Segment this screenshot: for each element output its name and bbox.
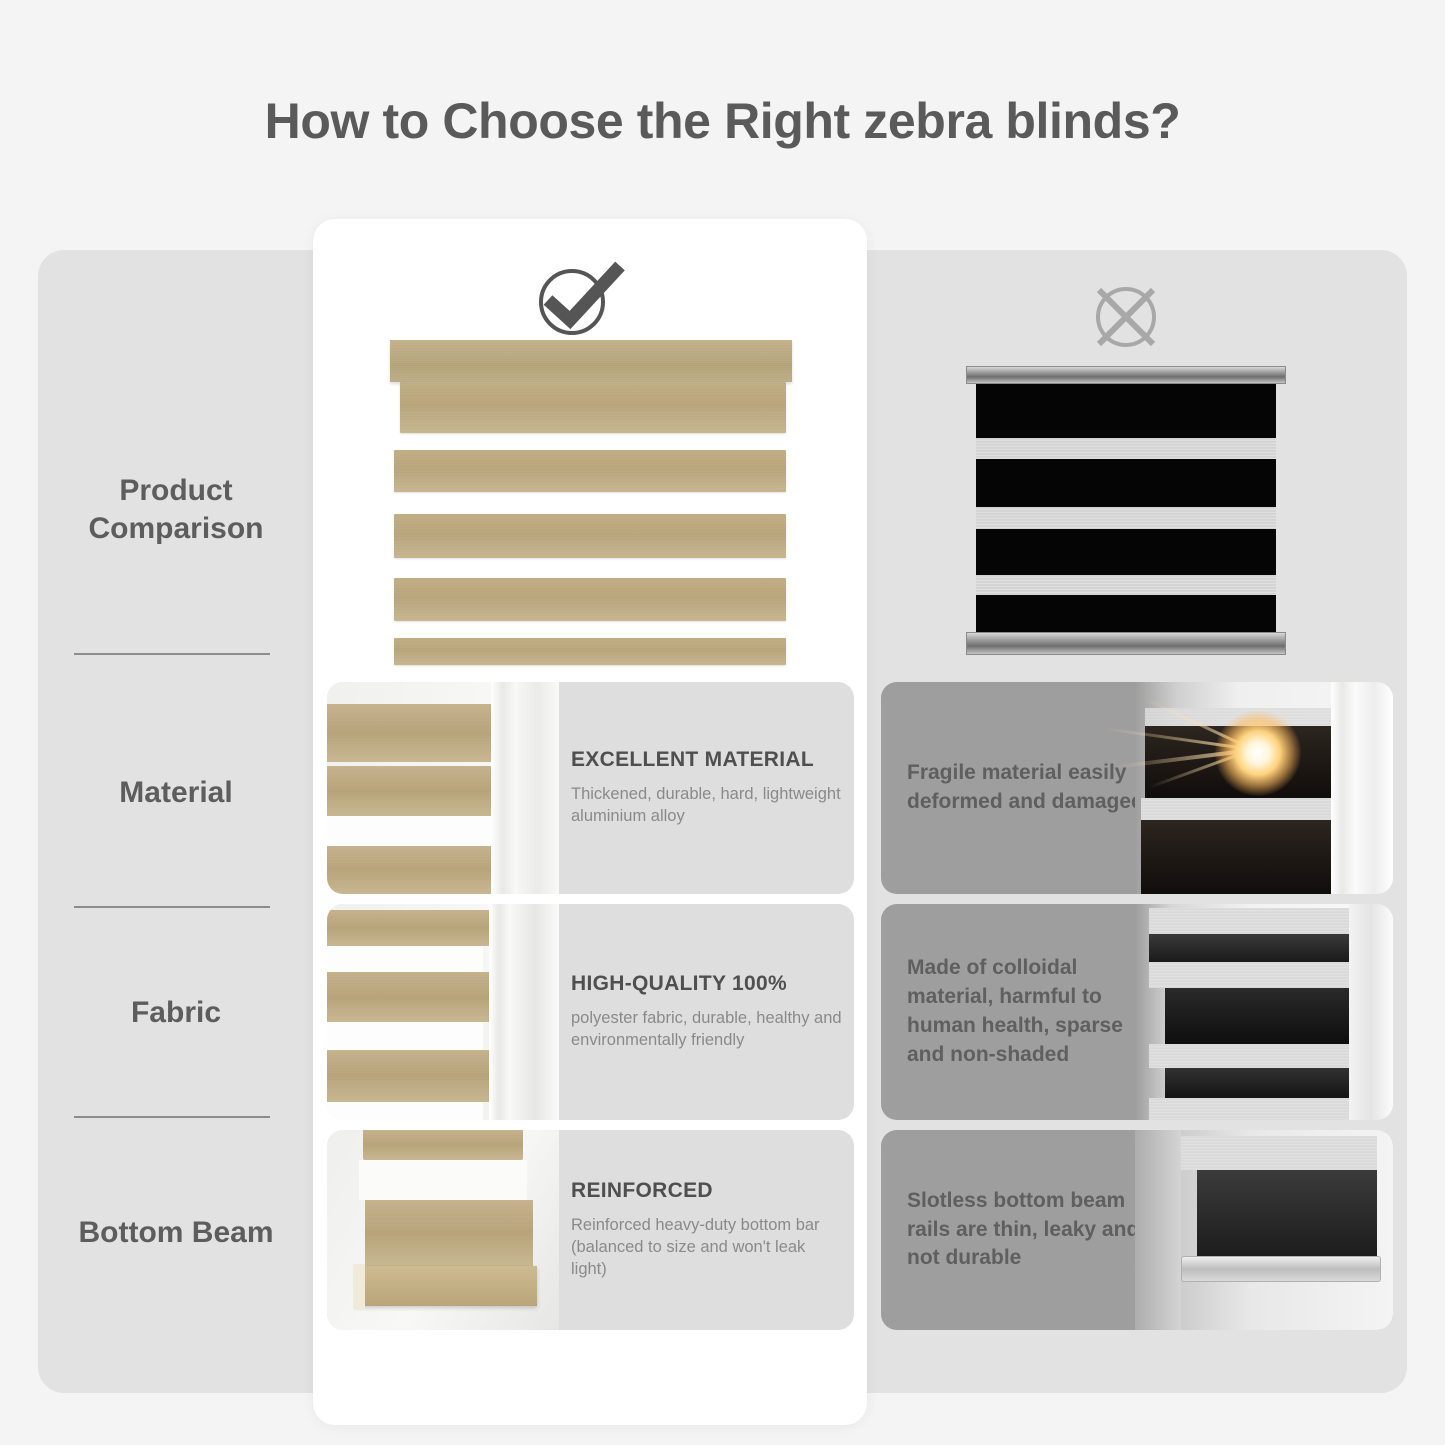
bad-material-photo <box>1135 682 1393 894</box>
feature-body: Thickened, durable, hard, lightweight al… <box>571 784 842 828</box>
blind-band <box>394 514 786 558</box>
rail-label-bottom-beam: Bottom Beam <box>38 1178 314 1288</box>
blind-band <box>394 578 786 621</box>
rail-label-material: Material <box>38 758 314 828</box>
page-title: How to Choose the Right zebra blinds? <box>0 92 1445 150</box>
blind-band <box>976 595 1276 632</box>
window-frame <box>511 904 559 1120</box>
window-frame <box>1135 1130 1181 1330</box>
bottom-bar-end-cap <box>353 1264 365 1310</box>
blind-mesh <box>1149 1044 1349 1068</box>
bad-feature-row-fabric: Made of colloidal material, harmful to h… <box>881 904 1393 1120</box>
good-feature-row-bottom-beam: REINFORCED Reinforced heavy-duty bottom … <box>327 1130 854 1330</box>
window-frame <box>491 682 517 894</box>
bad-fabric-photo <box>1135 904 1393 1120</box>
sun-glare-icon <box>1215 710 1301 796</box>
rail-divider-2 <box>74 906 270 908</box>
blind-slat <box>1141 820 1337 894</box>
blind-slat <box>327 766 491 816</box>
bad-hero-image <box>966 366 1286 655</box>
window-frame <box>1349 904 1393 1120</box>
light-gap <box>327 946 483 972</box>
blind-slat <box>327 704 505 762</box>
light-gap <box>359 1160 527 1200</box>
blind-slat <box>327 846 497 894</box>
blind-slat <box>365 1200 533 1266</box>
blind-band <box>976 459 1276 507</box>
blind-band <box>976 384 1276 438</box>
rail-label-text: Material <box>119 774 232 812</box>
good-bottom-beam-text: REINFORCED Reinforced heavy-duty bottom … <box>571 1130 854 1330</box>
category-label-rail: Product Comparison Material Fabric Botto… <box>38 250 314 1393</box>
bad-feature-row-bottom-beam: Slotless bottom beam rails are thin, lea… <box>881 1130 1393 1330</box>
feature-body: polyester fabric, durable, healthy and e… <box>571 1008 842 1052</box>
feature-heading: HIGH-QUALITY 100% <box>571 972 842 996</box>
blind-slat <box>1165 1068 1349 1098</box>
blind-band <box>394 450 786 492</box>
bad-feature-row-material: Fragile material easily deformed and dam… <box>881 682 1393 894</box>
feature-body: Reinforced heavy-duty bottom bar (balanc… <box>571 1215 842 1281</box>
check-circle-icon <box>528 256 628 340</box>
blind-band <box>976 507 1276 529</box>
light-gap <box>327 1102 483 1120</box>
feature-text: Fragile material easily deformed and dam… <box>907 759 1165 817</box>
rail-label-text: Product Comparison <box>56 472 296 548</box>
good-fabric-photo <box>327 904 559 1120</box>
good-material-photo <box>327 682 559 894</box>
blind-band <box>400 382 786 433</box>
feature-text: Made of colloidal material, harmful to h… <box>907 954 1165 1070</box>
window-frame <box>517 682 559 894</box>
rail-label-text: Fabric <box>131 994 221 1032</box>
good-material-text: EXCELLENT MATERIAL Thickened, durable, h… <box>571 682 854 894</box>
blind-slat <box>1165 988 1349 1044</box>
good-feature-row-material: EXCELLENT MATERIAL Thickened, durable, h… <box>327 682 854 894</box>
bad-material-text: Fragile material easily deformed and dam… <box>907 682 1165 894</box>
good-hero-image <box>386 340 796 665</box>
light-gap <box>327 1022 483 1050</box>
rail-divider-3 <box>74 1116 270 1118</box>
light-gap <box>327 816 491 846</box>
blind-mesh <box>1149 1098 1349 1120</box>
blind-slat <box>327 910 489 946</box>
blind-headrail <box>966 366 1286 384</box>
thin-bottom-rail <box>1181 1256 1381 1282</box>
reinforced-bottom-bar <box>357 1266 537 1306</box>
good-feature-row-fabric: HIGH-QUALITY 100% polyester fabric, dura… <box>327 904 854 1120</box>
feature-text: Slotless bottom beam rails are thin, lea… <box>907 1187 1165 1274</box>
feature-heading: REINFORCED <box>571 1179 842 1203</box>
x-circle-icon <box>1086 278 1166 356</box>
blind-slat <box>327 972 489 1022</box>
blind-slat <box>1197 1170 1377 1256</box>
feature-heading: EXCELLENT MATERIAL <box>571 748 842 772</box>
bad-bottom-beam-photo <box>1135 1130 1393 1330</box>
bad-bottom-beam-text: Slotless bottom beam rails are thin, lea… <box>907 1130 1165 1330</box>
infographic-canvas: How to Choose the Right zebra blinds? Pr… <box>0 0 1445 1445</box>
blind-bottom-bar <box>966 632 1286 655</box>
bad-fabric-text: Made of colloidal material, harmful to h… <box>907 904 1165 1120</box>
blind-bottom-bar <box>394 638 786 665</box>
blind-mesh <box>1149 962 1349 988</box>
blind-band <box>976 529 1276 575</box>
blind-slat <box>1149 934 1349 962</box>
blind-band <box>976 575 1276 595</box>
rail-divider-1 <box>74 653 270 655</box>
good-bottom-beam-photo <box>327 1130 559 1330</box>
good-fabric-text: HIGH-QUALITY 100% polyester fabric, dura… <box>571 904 854 1120</box>
blind-headrail <box>390 340 792 382</box>
rail-label-fabric: Fabric <box>38 978 314 1048</box>
rail-label-product-comparison: Product Comparison <box>38 440 314 580</box>
window-frame <box>489 904 511 1120</box>
blind-mesh <box>1149 908 1349 934</box>
window-frame <box>1355 682 1393 894</box>
blind-mesh <box>1141 798 1337 820</box>
blind-slat <box>327 1050 489 1102</box>
blind-band <box>976 438 1276 459</box>
blind-mesh <box>1181 1136 1377 1170</box>
rail-label-text: Bottom Beam <box>78 1214 273 1252</box>
window-frame <box>1331 682 1355 894</box>
blind-slat <box>363 1130 523 1160</box>
